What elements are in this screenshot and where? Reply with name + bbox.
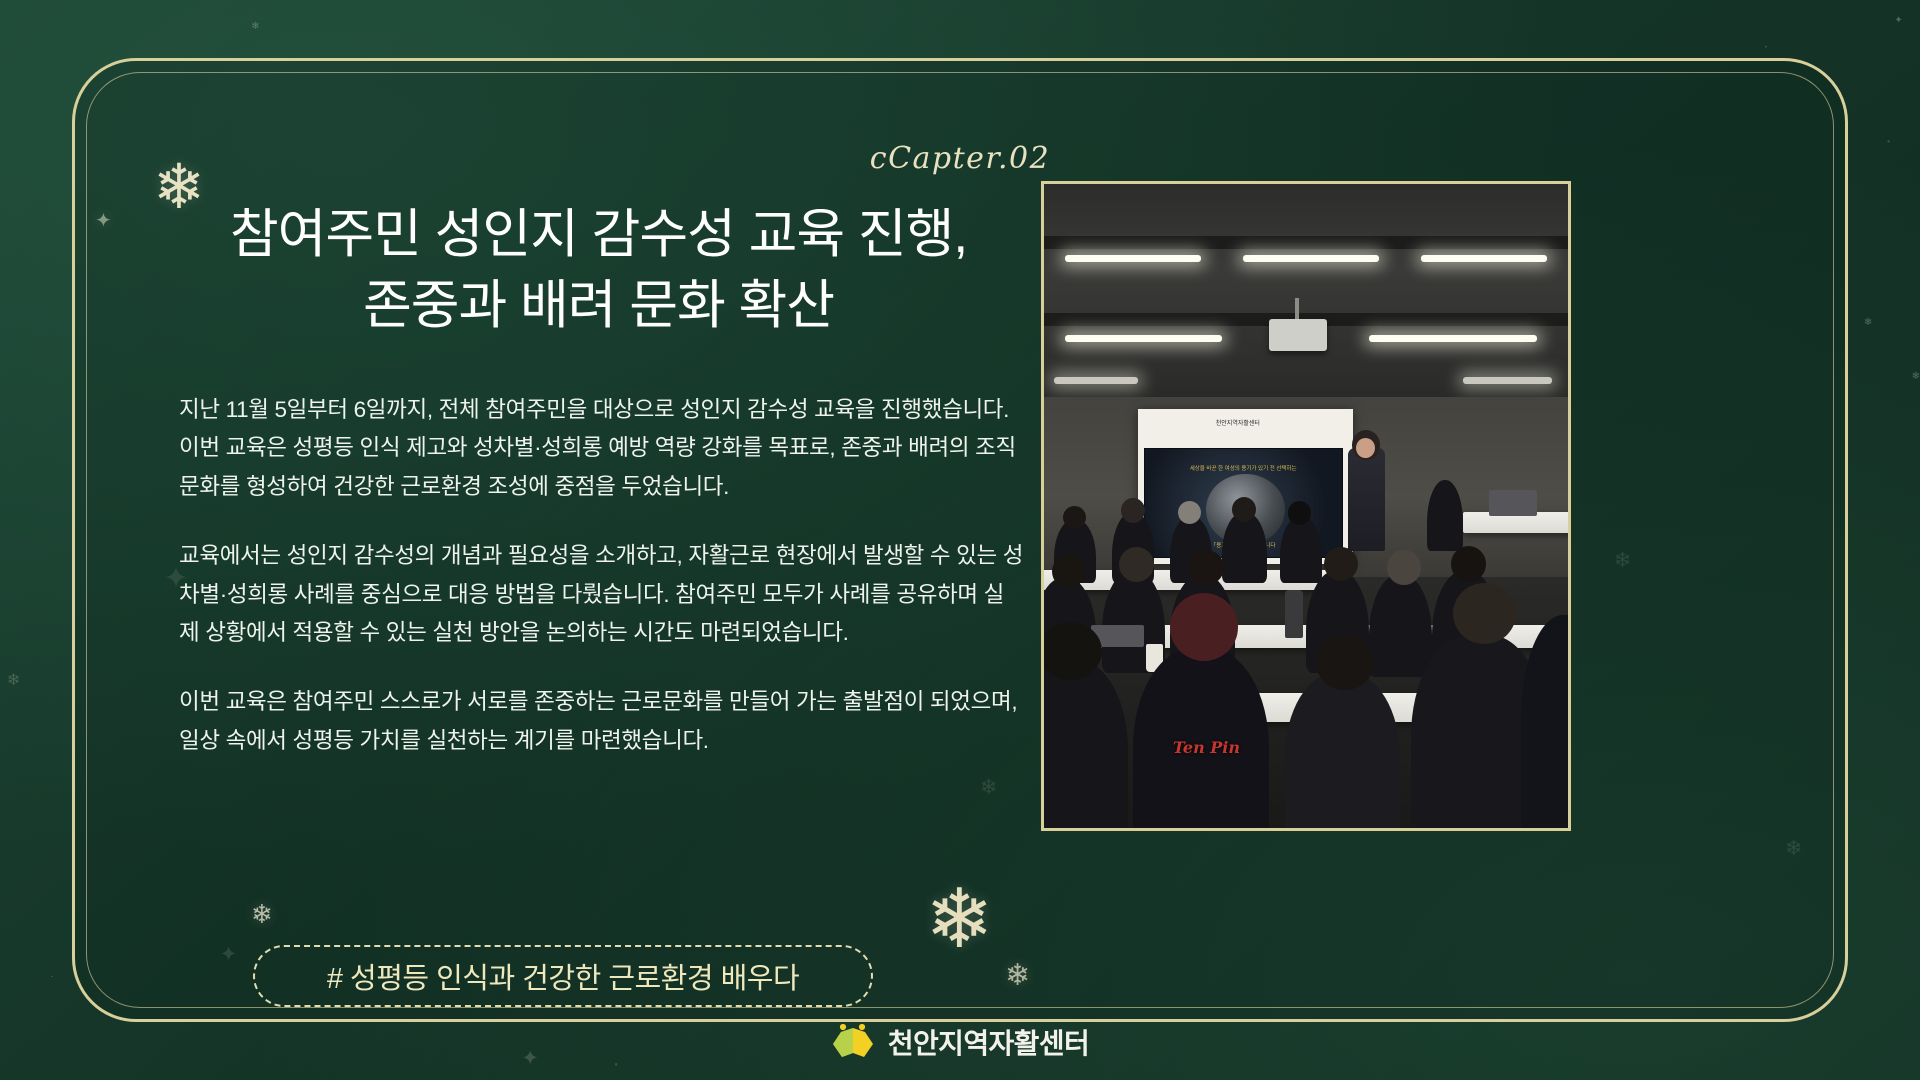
photo-ceiling-light-1	[1065, 255, 1201, 262]
body-paragraph-3: 이번 교육은 참여주민 스스로가 서로를 존중하는 근로문화를 만들어 가는 출…	[179, 683, 1024, 760]
photo-attendee-head	[1451, 546, 1487, 582]
photo-attendee-head	[1288, 501, 1311, 524]
photo-ceiling-light-5	[1369, 335, 1537, 342]
hashtag-badge: # 성평등 인식과 건강한 근로환경 배우다	[253, 945, 873, 1007]
chapter-label: cCapter.02	[75, 141, 1845, 176]
snowflake-icon-bottom-left: ❄	[251, 901, 273, 927]
photo-attendee-head	[1189, 550, 1225, 585]
photo-attendee-head	[1453, 583, 1516, 644]
body-paragraph-2: 교육에서는 성인지 감수성의 개념과 필요성을 소개하고, 자활근로 현장에서 …	[179, 537, 1024, 653]
snow-speck: ✦	[1894, 16, 1902, 26]
photo-screen-logo: 천안지역자활센터	[1159, 418, 1316, 427]
photo-attendee	[1285, 673, 1400, 831]
photo-attendee	[1222, 512, 1267, 583]
photo-attendee-head-red-hair	[1170, 593, 1238, 661]
title-line-1: 참여주민 성인지 감수성 교육 진행,	[179, 201, 1018, 270]
photo-attendee-head	[1063, 506, 1086, 529]
snowflake-icon-bottom-right: ❄	[925, 879, 994, 961]
snow-speck: ❄	[251, 22, 259, 32]
lecture-photo-frame: 천안지역자활센터 세상을 바꾼 한 여성의 용기가 있기 전 선택하는 「용기내…	[1041, 181, 1571, 831]
photo-attendee-head	[1178, 501, 1201, 524]
photo-ceiling-beam-1	[1044, 236, 1568, 249]
photo-attendee-head	[1316, 635, 1374, 690]
hashtag-text: # 성평등 인식과 건강한 근로환경 배우다	[327, 955, 799, 997]
photo-slide-caption-1: 세상을 바꾼 한 여성의 용기가 있기 전 선택하는	[1154, 464, 1332, 472]
content-column: 참여주민 성인지 감수성 교육 진행, 존중과 배려 문화 확산 지난 11월 …	[179, 189, 1024, 760]
photo-attendee-head	[1119, 547, 1154, 582]
snowflake-icon-side: ✦	[95, 211, 112, 231]
title-line-2: 존중과 배려 문화 확산	[179, 272, 1018, 341]
photo-ceiling-light-6	[1054, 377, 1138, 384]
photo-water-bottle	[1285, 590, 1303, 638]
photo-projector	[1269, 319, 1327, 351]
page-title: 참여주민 성인지 감수성 교육 진행, 존중과 배려 문화 확산	[179, 189, 1024, 341]
body-paragraph-1: 지난 11월 5일부터 6일까지, 전체 참여주민을 대상으로 성인지 감수성 …	[179, 391, 1024, 507]
snowflake-icon-bottom-right-small: ❄	[1005, 961, 1030, 991]
photo-attendee	[1280, 516, 1322, 584]
footer-logo: 천안지역자활센터	[0, 1022, 1920, 1062]
snow-speck: ❄	[1864, 318, 1872, 328]
photo-ceiling	[1044, 184, 1568, 397]
photo-attendee-head	[1232, 497, 1256, 522]
snow-speck: ·	[50, 972, 53, 982]
photo-attendee-head	[1041, 622, 1102, 680]
photo-ceiling-light-3	[1421, 255, 1547, 262]
promo-card: ✦·❄❄❄❄··✦❄❄✦·✦❄ cCapter.02 ❄ ❄ ❄ ❄ ✦ 참여주…	[0, 0, 1920, 1080]
star-mascot-logo-icon	[831, 1022, 875, 1062]
lecture-photo: 천안지역자활센터 세상을 바꾼 한 여성의 용기가 있기 전 선택하는 「용기내…	[1044, 184, 1568, 828]
snow-speck: ·	[1763, 39, 1768, 55]
photo-ceiling-light-7	[1463, 377, 1552, 384]
snow-speck: ·	[1885, 130, 1892, 151]
photo-side-laptop	[1489, 490, 1536, 516]
photo-ceiling-light-2	[1243, 255, 1379, 262]
photo-lecturer-body	[1348, 448, 1385, 551]
body-text: 지난 11월 5일부터 6일까지, 전체 참여주민을 대상으로 성인지 감수성 …	[179, 391, 1024, 761]
photo-attendee-head	[1387, 550, 1422, 585]
snow-speck: ❄	[1912, 372, 1920, 382]
photo-jacket-text: Ten Pin	[1144, 738, 1270, 757]
photo-lecturer-face	[1356, 438, 1375, 458]
gold-frame-panel: cCapter.02 ❄ ❄ ❄ ❄ ✦ 참여주민 성인지 감수성 교육 진행,…	[72, 58, 1848, 1022]
footer-org-name: 천안지역자활센터	[888, 1022, 1089, 1062]
photo-attendee-head	[1121, 498, 1145, 522]
photo-ceiling-light-4	[1065, 335, 1222, 342]
snow-speck: ❄	[7, 673, 20, 689]
